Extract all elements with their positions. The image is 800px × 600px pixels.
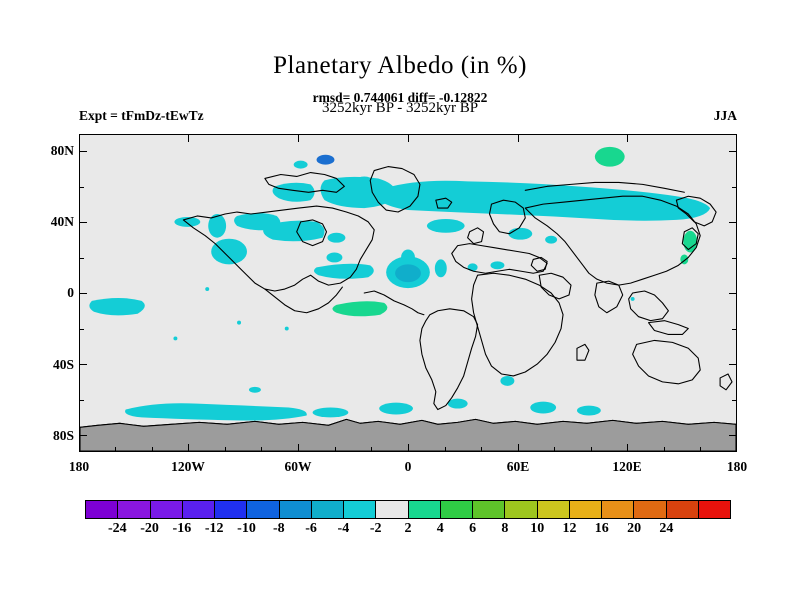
colorbar-cell-3 <box>183 501 215 518</box>
lon-label-180e: 180 <box>727 459 747 475</box>
region-southern-ocean-indian <box>577 406 601 416</box>
lon-tick-60e <box>518 444 519 452</box>
speck-1 <box>205 287 209 291</box>
lon-tick-minor-7 <box>445 447 446 452</box>
lon-tick-minor-11 <box>664 447 665 452</box>
colorbar-label-6: 6 <box>469 521 476 537</box>
colorbar-cell-12 <box>473 501 505 518</box>
lat-label-80n: 80N <box>51 143 74 159</box>
colorbar-label-8: 8 <box>501 521 508 537</box>
region-west-pacific-cyan <box>89 298 144 315</box>
colorbar-label-neg4: -4 <box>338 521 350 537</box>
colorbar-label-24: 24 <box>659 521 673 537</box>
speck-4 <box>173 336 177 340</box>
lat-tick-20s-minor-right <box>732 329 737 330</box>
colorbar-cells <box>85 500 731 519</box>
lat-label-40s: 40S <box>53 357 74 373</box>
lat-tick-20s-minor-left <box>79 329 84 330</box>
colorbar-cell-16 <box>602 501 634 518</box>
region-drake-passage-spot <box>448 399 468 409</box>
colorbar-label-neg8: -8 <box>273 521 285 537</box>
lat-tick-60n-minor-left <box>79 187 84 188</box>
lat-tick-40s-left <box>79 364 87 365</box>
lon-label-0: 0 <box>405 459 412 475</box>
lat-tick-60s-minor-right <box>732 400 737 401</box>
colorbar-label-4: 4 <box>437 521 444 537</box>
region-west-siberia-spot <box>427 219 465 233</box>
region-south-pacific-spot <box>249 387 261 393</box>
lon-tick-minor-9 <box>554 447 555 452</box>
colorbar-label-neg12: -12 <box>205 521 224 537</box>
colorbar-cell-13 <box>505 501 537 518</box>
colorbar-tick-labels: -24-20-16-12-10-8-6-4-224681012162024 <box>85 521 731 541</box>
region-central-asia-spot <box>468 263 478 271</box>
lon-tick-top-60e <box>518 134 519 142</box>
region-great-lakes-spot <box>326 253 342 263</box>
lon-tick-120w <box>188 444 189 452</box>
lon-label-180w: 180 <box>69 459 89 475</box>
lon-tick-minor-12 <box>700 447 701 452</box>
colorbar <box>85 500 731 519</box>
region-central-siberia-spot <box>508 228 532 240</box>
speck-5 <box>631 297 635 301</box>
colorbar-cell-17 <box>634 501 666 518</box>
colorbar-cell-14 <box>538 501 570 518</box>
colorbar-label-12: 12 <box>563 521 577 537</box>
lat-tick-60s-minor-left <box>79 400 84 401</box>
speck-3 <box>285 327 289 331</box>
colorbar-cell-6 <box>280 501 312 518</box>
colorbar-cell-7 <box>312 501 344 518</box>
colorbar-cell-4 <box>215 501 247 518</box>
colorbar-cell-8 <box>344 501 376 518</box>
colorbar-label-2: 2 <box>405 521 412 537</box>
region-kazakhstan-spot <box>490 261 504 269</box>
lat-label-80s: 80S <box>53 428 74 444</box>
lon-tick-minor-6 <box>371 447 372 452</box>
lat-tick-40s-right <box>729 364 737 365</box>
lon-tick-minor-10 <box>591 447 592 452</box>
experiment-label: Expt = tFmDz-tEwTz <box>79 108 204 124</box>
region-north-atlantic-core <box>395 264 421 282</box>
colorbar-label-neg6: -6 <box>305 521 317 537</box>
lon-tick-120e <box>627 444 628 452</box>
colorbar-cell-15 <box>570 501 602 518</box>
region-baltic-spot <box>327 233 345 243</box>
lat-tick-20n-minor-right <box>732 258 737 259</box>
colorbar-label-neg2: -2 <box>370 521 382 537</box>
lat-label-0: 0 <box>67 285 74 301</box>
lon-tick-minor-5 <box>335 447 336 452</box>
lon-tick-60w <box>298 444 299 452</box>
colorbar-cell-19 <box>699 501 730 518</box>
colorbar-cell-2 <box>151 501 183 518</box>
colorbar-cell-11 <box>441 501 473 518</box>
colorbar-cell-10 <box>409 501 441 518</box>
lon-tick-top-120w <box>188 134 189 142</box>
map-plot-area <box>79 134 737 452</box>
lon-tick-minor-3 <box>225 447 226 452</box>
colorbar-label-20: 20 <box>627 521 641 537</box>
lat-tick-20n-minor-left <box>79 258 84 259</box>
region-east-siberia-spot <box>545 236 557 244</box>
lat-tick-80n-left <box>79 151 87 152</box>
colorbar-label-neg20: -20 <box>140 521 159 537</box>
lat-tick-80s-left <box>79 435 87 436</box>
region-southern-ocean-atlantic <box>530 402 556 414</box>
region-arctic-siberia-positive <box>595 147 625 167</box>
lat-tick-0-right <box>729 293 737 294</box>
colorbar-label-neg24: -24 <box>108 521 127 537</box>
colorbar-cell-18 <box>667 501 699 518</box>
lon-tick-minor-4 <box>261 447 262 452</box>
colorbar-label-10: 10 <box>530 521 544 537</box>
region-us-northwest <box>211 239 247 265</box>
region-caspian-spot <box>435 259 447 277</box>
lon-label-60e: 60E <box>507 459 530 475</box>
speck-2 <box>237 321 241 325</box>
colorbar-label-neg16: -16 <box>173 521 192 537</box>
lon-label-120e: 120E <box>612 459 641 475</box>
region-southern-ocean-spot-1 <box>313 408 349 418</box>
lat-tick-80s-right <box>729 435 737 436</box>
region-south-atlantic-spot <box>500 376 514 386</box>
lon-tick-minor-2 <box>152 447 153 452</box>
region-arctic-archipelago-spot <box>294 161 308 169</box>
lon-label-60w: 60W <box>285 459 312 475</box>
lon-tick-minor-8 <box>481 447 482 452</box>
colorbar-cell-9 <box>376 501 408 518</box>
world-map-heatmap <box>80 135 736 451</box>
lat-tick-60n-minor-right <box>732 187 737 188</box>
region-arctic-dark-spot <box>317 155 335 165</box>
lat-tick-40n-left <box>79 222 87 223</box>
colorbar-label-neg10: -10 <box>237 521 256 537</box>
lon-tick-top-0 <box>408 134 409 142</box>
colorbar-cell-0 <box>86 501 118 518</box>
lon-label-120w: 120W <box>171 459 205 475</box>
lon-tick-top-120e <box>627 134 628 142</box>
colorbar-cell-1 <box>118 501 150 518</box>
lat-tick-0-left <box>79 293 87 294</box>
colorbar-label-16: 16 <box>595 521 609 537</box>
region-southern-ocean-spot-2 <box>379 403 413 415</box>
lon-tick-top-60w <box>298 134 299 142</box>
page-title: Planetary Albedo (in %) <box>0 52 800 80</box>
lat-tick-80n-right <box>729 151 737 152</box>
colorbar-cell-5 <box>247 501 279 518</box>
season-label: JJA <box>714 108 737 124</box>
lon-tick-minor-1 <box>115 447 116 452</box>
lat-tick-40n-right <box>729 222 737 223</box>
lon-tick-0 <box>408 444 409 452</box>
lat-label-40n: 40N <box>51 214 74 230</box>
